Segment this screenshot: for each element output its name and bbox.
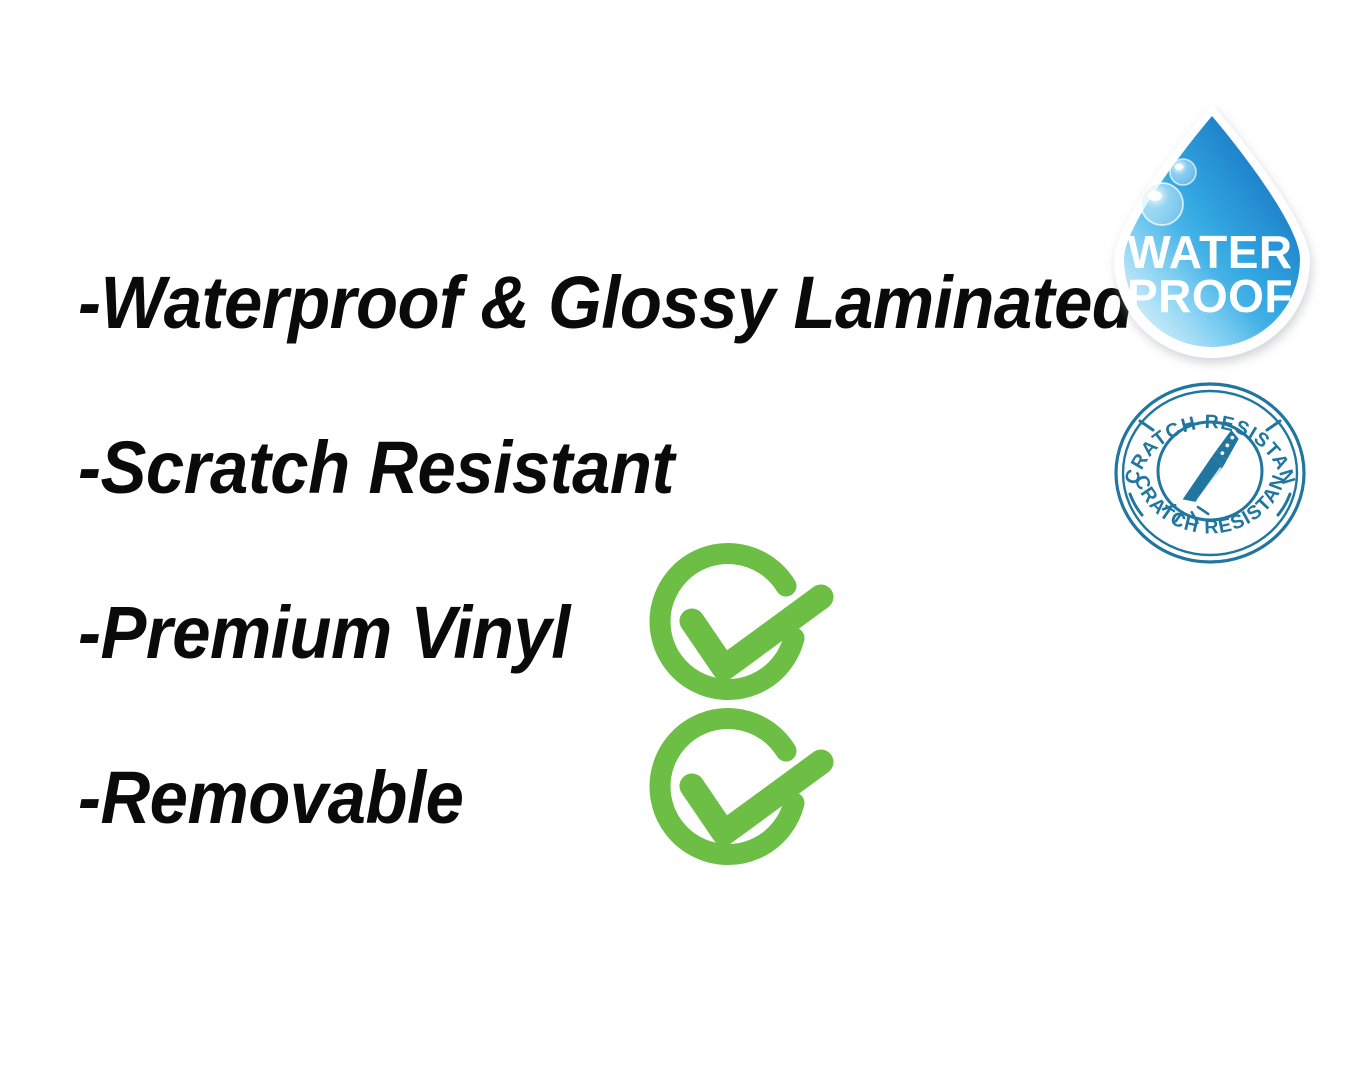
list-item: -Removable — [78, 753, 492, 843]
list-item: -Waterproof & Glossy Laminated — [78, 258, 1213, 348]
feature-label-removable: -Removable — [78, 753, 463, 843]
check-circle-icon — [636, 548, 836, 724]
feature-label-waterproof: -Waterproof & Glossy Laminated — [78, 258, 1133, 348]
check-circle-icon — [636, 713, 836, 889]
list-item: -Premium Vinyl — [78, 588, 607, 678]
list-item: -Scratch Resistant — [78, 423, 719, 513]
waterproof-line2-text: PROOF — [1127, 270, 1293, 322]
knife-stamp-icon: SCRATCH RESISTANT SCRATCH RESISTANT — [1112, 382, 1308, 564]
water-drop-icon: WATER PROOF — [1104, 100, 1320, 352]
promo-feature-graphic: -Waterproof & Glossy Laminated -Scratch … — [0, 0, 1359, 1080]
feature-label-scratch-resistant: -Scratch Resistant — [78, 423, 674, 513]
feature-label-premium-vinyl: -Premium Vinyl — [78, 588, 570, 678]
